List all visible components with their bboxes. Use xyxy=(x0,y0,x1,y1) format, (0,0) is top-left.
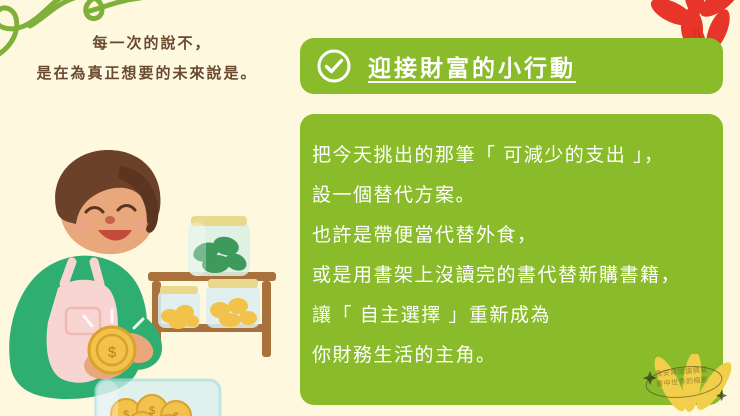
body-line-5: 讓「 自主選擇 」重新成為 xyxy=(312,296,713,336)
body-line-3: 也許是帶便當代替外食， xyxy=(312,216,713,256)
body-text: 把今天挑出的那筆「 可減少的支出 」， 設一個替代方案。 也許是帶便當代替外食，… xyxy=(312,136,713,376)
svg-text:$: $ xyxy=(173,411,179,416)
svg-text:$: $ xyxy=(149,405,155,416)
slide-canvas: 每一次的說不， 是在為真正想要的未來說是。 xyxy=(0,0,740,416)
quote-line-1: 每一次的說不， xyxy=(18,28,286,58)
glass-box-with-coins: $$$ xyxy=(96,380,220,416)
body-line-6: 你財務生活的主角。 xyxy=(312,336,713,376)
jar-of-greens xyxy=(188,216,250,276)
header-title: 迎接財富的小行動 xyxy=(368,49,576,83)
body-line-4: 或是用書架上沒讀完的書代替新購書籍， xyxy=(312,256,713,296)
check-circle-icon xyxy=(316,48,352,84)
body-line-1: 把今天挑出的那筆「 可減少的支出 」， xyxy=(312,136,713,176)
svg-text:$: $ xyxy=(123,409,129,416)
jar-of-snacks-right xyxy=(206,279,260,328)
person-saving-coins-illustration: $ $$$ xyxy=(0,112,296,416)
person-figure xyxy=(6,150,162,416)
quote-line-2: 是在為真正想要的未來說是。 xyxy=(8,58,286,88)
jar-of-snacks-left xyxy=(158,286,200,329)
body-panel: 把今天挑出的那筆「 可減少的支出 」， 設一個替代方案。 也許是帶便當代替外食，… xyxy=(300,114,723,405)
svg-text:$: $ xyxy=(108,344,117,361)
handwritten-quote: 每一次的說不， 是在為真正想要的未來說是。 xyxy=(18,28,286,88)
header-banner: 迎接財富的小行動 xyxy=(300,38,723,94)
body-line-2: 設一個替代方案。 xyxy=(312,176,713,216)
